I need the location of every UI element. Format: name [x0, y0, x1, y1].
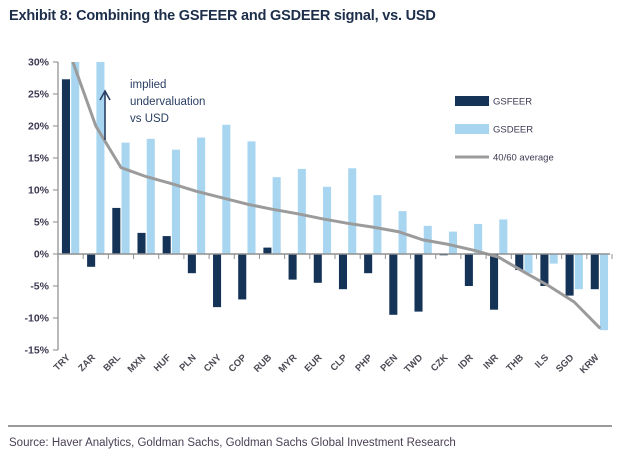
x-axis-category-label: HUF: [152, 352, 174, 374]
bar-gsfeer: [289, 254, 297, 280]
y-axis-tick-label: -5%: [30, 281, 49, 293]
bar-gsfeer: [490, 254, 498, 310]
legend-swatch: [455, 96, 489, 106]
bar-gsdeer: [499, 219, 507, 254]
x-axis-category-label: PHP: [353, 352, 375, 374]
bar-gsfeer: [112, 208, 120, 254]
page-title: Exhibit 8: Combining the GSFEER and GSDE…: [9, 8, 436, 24]
bar-gsdeer: [96, 43, 104, 254]
bar-gsdeer: [524, 254, 532, 273]
bar-gsfeer: [414, 254, 422, 312]
bar-gsfeer: [238, 254, 246, 299]
y-axis-tick-label: -10%: [24, 313, 49, 325]
bar-gsfeer: [263, 248, 271, 254]
x-axis-category-label: TRY: [52, 352, 73, 373]
legend-label: GSFEER: [493, 97, 532, 108]
y-axis-tick-label: -15%: [24, 345, 49, 357]
x-axis-category-label: THB: [504, 352, 526, 374]
bar-gsdeer: [348, 168, 356, 254]
bar-gsdeer: [122, 143, 130, 254]
y-axis-tick-label: 0%: [34, 249, 50, 261]
x-axis-category-label: IDR: [456, 352, 475, 371]
x-axis-category-label: EUR: [303, 352, 325, 374]
x-axis-category-label: MYR: [277, 352, 300, 375]
x-axis-category-label: CNY: [202, 352, 224, 374]
source-note: Source: Haver Analytics, Goldman Sachs, …: [9, 437, 456, 449]
bar-gsdeer: [273, 177, 281, 254]
x-axis-category-label: PLN: [177, 352, 198, 373]
bar-gsdeer: [449, 232, 457, 254]
y-axis-tick-label: 5%: [34, 217, 50, 229]
bar-gsfeer: [163, 236, 171, 254]
x-axis-category-label: KRW: [578, 352, 602, 376]
x-axis-category-label: MXN: [126, 352, 149, 375]
bar-gsfeer: [314, 254, 322, 283]
bar-gsfeer: [87, 254, 95, 267]
y-axis-tick-label: 15%: [28, 153, 50, 165]
footer-divider: [8, 425, 612, 427]
y-axis-tick-label: 25%: [28, 89, 50, 101]
y-axis-tick-label: 10%: [28, 185, 50, 197]
annotation-line: vs USD: [130, 113, 169, 125]
y-axis-tick-label: 20%: [28, 121, 50, 133]
x-axis-category-label: RUB: [252, 352, 274, 374]
bar-gsfeer: [591, 254, 599, 289]
bar-gsdeer: [247, 141, 255, 254]
x-axis-category-label: BRL: [101, 352, 123, 374]
bar-gsfeer: [339, 254, 347, 289]
x-axis-category-label: PEN: [378, 352, 400, 374]
chart-area: 30%25%20%15%10%5%0%-5%-10%-15%TRYZARBRLM…: [0, 40, 620, 410]
y-axis-tick-label: 30%: [28, 57, 50, 69]
bar-gsdeer: [373, 195, 381, 254]
exhibit-figure: Exhibit 8: Combining the GSFEER and GSDE…: [0, 0, 620, 466]
bar-gsdeer: [550, 254, 558, 264]
bar-gsdeer: [222, 125, 230, 254]
x-axis-category-label: COP: [227, 352, 250, 375]
x-axis-category-label: ILS: [533, 352, 551, 370]
legend-label: GSDEER: [493, 125, 533, 136]
bar-gsfeer: [389, 254, 397, 315]
bar-gsfeer: [566, 254, 574, 296]
bar-gsfeer: [364, 254, 372, 273]
annotation-line: undervaluation: [130, 96, 205, 108]
x-axis-category-label: INR: [481, 352, 500, 371]
x-axis-category-label: TWD: [402, 352, 425, 375]
bar-gsdeer: [575, 254, 583, 289]
legend-label: 40/60 average: [493, 153, 554, 164]
bar-gsfeer: [465, 254, 473, 286]
bar-gsfeer: [213, 254, 221, 307]
bar-gsdeer: [147, 139, 155, 254]
x-axis-category-label: CLP: [328, 352, 350, 374]
bar-gsdeer: [298, 169, 306, 254]
bar-gsdeer: [197, 138, 205, 254]
x-axis-category-label: ZAR: [76, 352, 98, 374]
bar-gsfeer: [188, 254, 196, 273]
x-axis-category-label: CZK: [429, 352, 451, 374]
x-axis-category-label: SGD: [554, 352, 576, 374]
bar-gsdeer: [600, 254, 608, 330]
bar-gsfeer: [137, 233, 145, 254]
annotation-line: implied: [130, 79, 166, 91]
legend-swatch: [455, 124, 489, 134]
bar-gsfeer: [62, 79, 70, 254]
chart-svg: 30%25%20%15%10%5%0%-5%-10%-15%TRYZARBRLM…: [0, 40, 620, 410]
bar-gsdeer: [172, 150, 180, 254]
